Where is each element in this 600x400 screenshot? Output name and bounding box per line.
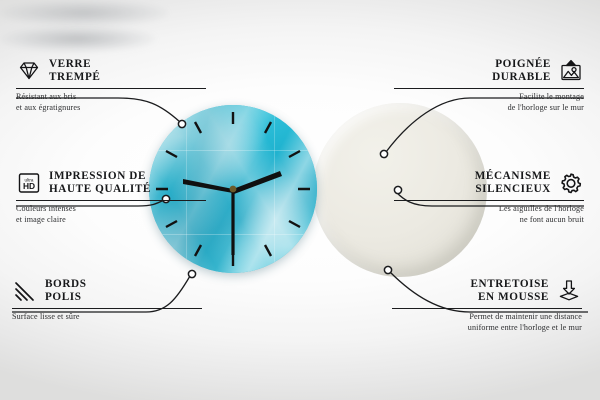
feature-entretoise-en-mousse[interactable]: ENTRETOISE EN MOUSSE Permet de maintenir… — [392, 278, 582, 333]
hanging-frame-icon — [558, 59, 584, 83]
feature-desc-line1: Couleurs intenses — [16, 204, 206, 214]
infographic-canvas: VERRE TREMPÉ Résistant aux bris et aux é… — [0, 0, 600, 400]
feature-title-line2: SILENCIEUX — [475, 183, 551, 196]
feature-title-line1: IMPRESSION DE — [49, 170, 151, 183]
feature-desc-line2: et image claire — [16, 215, 206, 225]
feature-desc-line1: Surface lisse et sûre — [12, 312, 202, 322]
clock-hand-minute — [233, 171, 282, 194]
feature-rule — [12, 308, 202, 309]
feature-desc-line1: Permet de maintenir une distance — [392, 312, 582, 322]
foam-spacer-icon — [556, 279, 582, 303]
feature-title-line1: BORDS — [45, 278, 87, 291]
feature-header: MÉCANISME SILENCIEUX — [394, 170, 584, 197]
feature-title: POIGNÉE DURABLE — [492, 58, 551, 85]
feature-header: POIGNÉE DURABLE — [394, 58, 584, 85]
feature-header: BORDS POLIS — [12, 278, 202, 305]
feature-desc-line2: de l'horloge sur le mur — [394, 103, 584, 113]
feature-desc-line1: Facilite le montage — [394, 92, 584, 102]
feature-title: ENTRETOISE EN MOUSSE — [470, 278, 549, 305]
feature-header: VERRE TREMPÉ — [16, 58, 206, 85]
gear-icon — [558, 171, 584, 195]
feature-desc-line2: uniforme entre l'horloge et le mur — [392, 323, 582, 333]
diamond-icon — [16, 59, 42, 83]
feature-title: IMPRESSION DE HAUTE QUALITÉ — [49, 170, 151, 197]
feature-title: BORDS POLIS — [45, 278, 87, 305]
feature-title-line2: HAUTE QUALITÉ — [49, 183, 151, 196]
feature-header: ENTRETOISE EN MOUSSE — [392, 278, 582, 305]
svg-text:HD: HD — [23, 182, 35, 192]
polished-edges-icon — [12, 279, 38, 303]
feature-title-line2: DURABLE — [492, 71, 551, 84]
front-clock-shadow — [0, 26, 156, 52]
feature-description: Résistant aux bris et aux égratignures — [16, 92, 206, 112]
feature-poignee-durable[interactable]: POIGNÉE DURABLE Facilite le montage de l… — [394, 58, 584, 113]
feature-rule — [16, 88, 206, 89]
feature-desc-line2: et aux égratignures — [16, 103, 206, 113]
feature-title: MÉCANISME SILENCIEUX — [475, 170, 551, 197]
feature-description: Les aiguilles de l'horloge ne font aucun… — [394, 204, 584, 224]
feature-desc-line1: Résistant aux bris — [16, 92, 206, 102]
feature-title-line2: POLIS — [45, 291, 87, 304]
feature-title-line2: TREMPÉ — [49, 71, 100, 84]
feature-description: Couleurs intenses et image claire — [16, 204, 206, 224]
feature-description: Surface lisse et sûre — [12, 312, 202, 322]
feature-title: VERRE TREMPÉ — [49, 58, 100, 85]
feature-title-line1: VERRE — [49, 58, 100, 71]
feature-title-line2: EN MOUSSE — [470, 291, 549, 304]
ultra-hd-icon: ultra HD — [16, 171, 42, 195]
feature-title-line1: POIGNÉE — [492, 58, 551, 71]
feature-desc-line1: Les aiguilles de l'horloge — [394, 204, 584, 214]
feature-mecanisme-silencieux[interactable]: MÉCANISME SILENCIEUX Les aiguilles de l'… — [394, 170, 584, 225]
feature-title-line1: MÉCANISME — [475, 170, 551, 183]
feature-rule — [394, 88, 584, 89]
clock-hands-cap — [230, 186, 237, 193]
feature-rule — [392, 308, 582, 309]
back-clock-shadow — [0, 0, 168, 26]
feature-description: Facilite le montage de l'horloge sur le … — [394, 92, 584, 112]
feature-desc-line2: ne font aucun bruit — [394, 215, 584, 225]
feature-rule — [16, 200, 206, 201]
feature-rule — [394, 200, 584, 201]
feature-impression-haute-qualite[interactable]: ultra HD IMPRESSION DE HAUTE QUALITÉ Cou… — [16, 170, 206, 225]
feature-title-line1: ENTRETOISE — [470, 278, 549, 291]
feature-description: Permet de maintenir une distance uniform… — [392, 312, 582, 332]
clock-hand-second — [231, 189, 234, 255]
feature-bords-polis[interactable]: BORDS POLIS Surface lisse et sûre — [12, 278, 202, 323]
feature-header: ultra HD IMPRESSION DE HAUTE QUALITÉ — [16, 170, 206, 197]
feature-verre-trempe[interactable]: VERRE TREMPÉ Résistant aux bris et aux é… — [16, 58, 206, 113]
